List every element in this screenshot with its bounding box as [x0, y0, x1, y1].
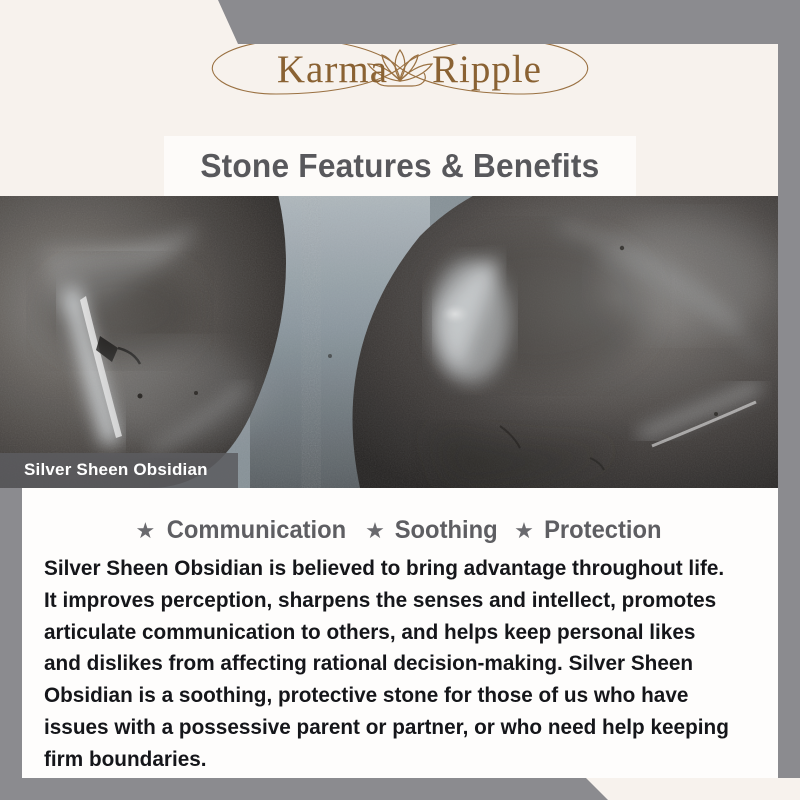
- frame-left-accent: [0, 488, 22, 778]
- brand-logo: Karma Ripple: [180, 28, 620, 108]
- star-icon: ★: [514, 520, 534, 542]
- brand-name-left: Karma: [277, 48, 388, 91]
- stone-photo-artwork: [0, 196, 800, 488]
- keyword-item: ★ Communication: [135, 516, 351, 545]
- keyword-item: ★ Soothing: [365, 516, 500, 545]
- keyword-list: ★ Communication ★ Soothing ★ Protection: [32, 516, 768, 545]
- benefits-panel: ★ Communication ★ Soothing ★ Protection …: [22, 488, 778, 778]
- star-icon: ★: [365, 520, 385, 542]
- keyword-label: Communication: [167, 516, 346, 545]
- stone-description: Silver Sheen Obsidian is believed to bri…: [44, 553, 731, 776]
- keyword-item: ★ Protection: [514, 516, 664, 545]
- logo-artwork: Karma Ripple: [180, 28, 620, 108]
- product-info-poster: Karma Ripple Stone Features & Benefits: [0, 0, 800, 800]
- brand-name-right: Ripple: [432, 48, 542, 91]
- section-title-band: Stone Features & Benefits: [164, 136, 636, 196]
- frame-right-accent: [778, 0, 800, 778]
- photo-caption: Silver Sheen Obsidian: [0, 453, 238, 488]
- stone-photo: Silver Sheen Obsidian: [0, 196, 800, 488]
- keyword-label: Soothing: [395, 516, 498, 545]
- star-icon: ★: [135, 520, 155, 542]
- photo-caption-label: Silver Sheen Obsidian: [24, 460, 208, 479]
- keyword-label: Protection: [544, 516, 661, 545]
- page-title: Stone Features & Benefits: [200, 147, 599, 185]
